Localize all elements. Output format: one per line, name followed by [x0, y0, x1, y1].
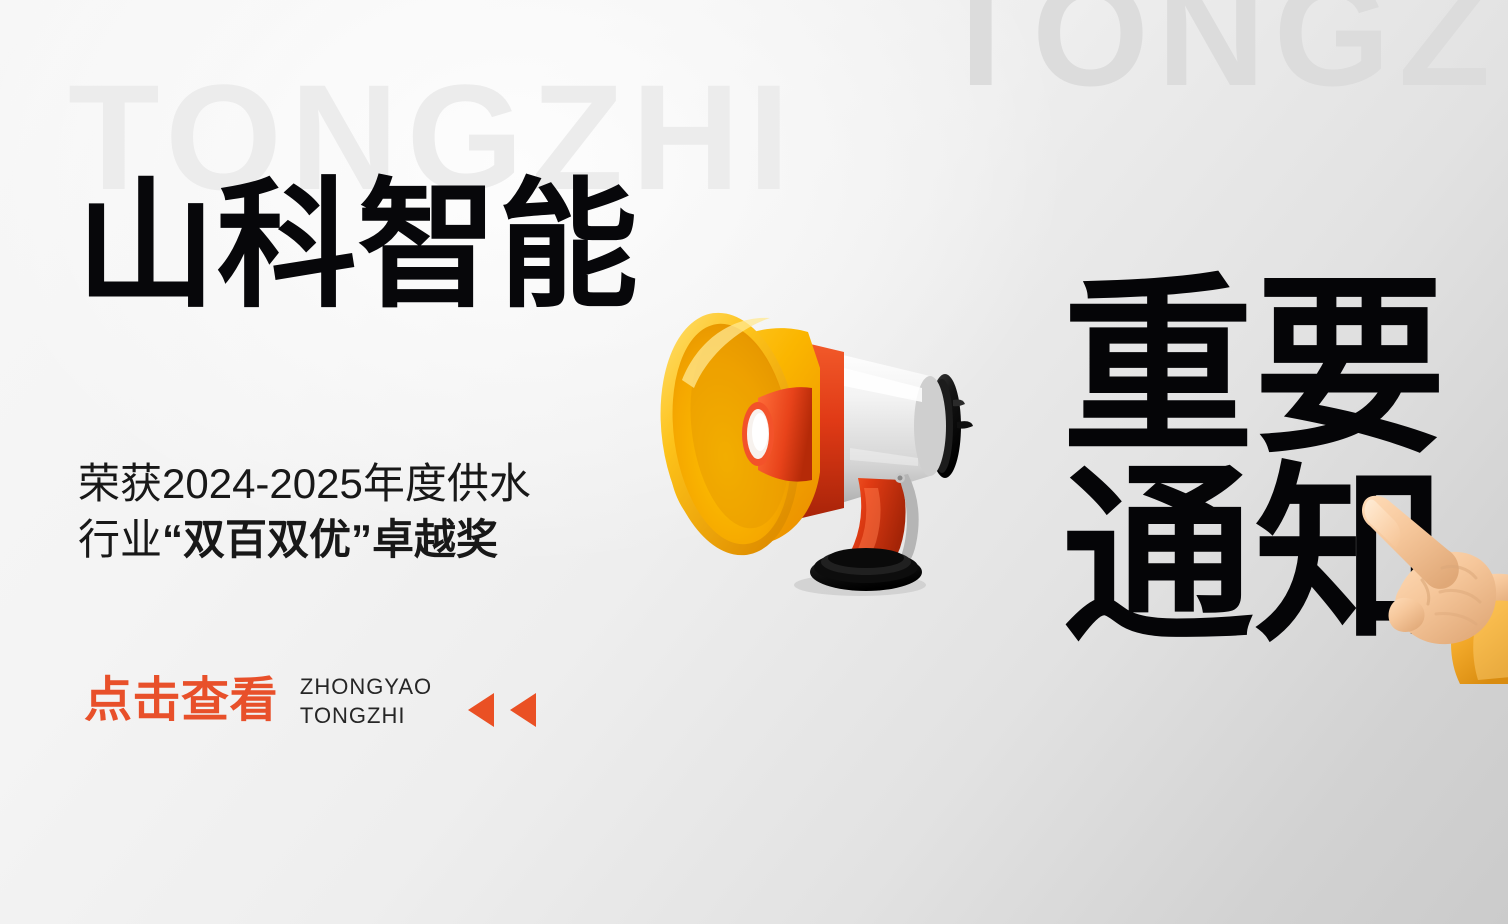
subtitle-award-suffix: 卓越奖: [372, 516, 498, 563]
cta-pinyin-line-1: ZHONGYAO: [300, 672, 432, 701]
arrow-left-icon-1[interactable]: [468, 693, 494, 727]
cta-pinyin: ZHONGYAO TONGZHI: [300, 672, 432, 730]
subtitle-award-name: “双百双优”: [162, 516, 372, 563]
cta-arrows[interactable]: [468, 693, 536, 727]
subtitle: 荣获2024-2025年度供水 行业“双百双优”卓越奖: [78, 456, 531, 569]
watermark-tongzhi-2: TONGZHI: [935, 0, 1508, 108]
pointing-hand-icon: [1336, 484, 1508, 684]
arrow-left-icon-2[interactable]: [510, 693, 536, 727]
cta-pinyin-line-2: TONGZHI: [300, 701, 432, 730]
notice-line-1: 重要: [1062, 280, 1446, 457]
subtitle-line-1: 荣获2024-2025年度供水: [78, 456, 531, 512]
cta-button-label[interactable]: 点击查看: [84, 677, 278, 725]
cta-row[interactable]: 点击查看 ZHONGYAO TONGZHI: [84, 672, 536, 730]
promo-banner: TONGZHI TONGZHI: [0, 0, 1508, 924]
subtitle-line-2: 行业“双百双优”卓越奖: [78, 512, 531, 568]
megaphone-icon: [612, 272, 1032, 602]
subtitle-prefix: 行业: [78, 516, 162, 563]
page-title: 山科智能: [76, 176, 639, 316]
